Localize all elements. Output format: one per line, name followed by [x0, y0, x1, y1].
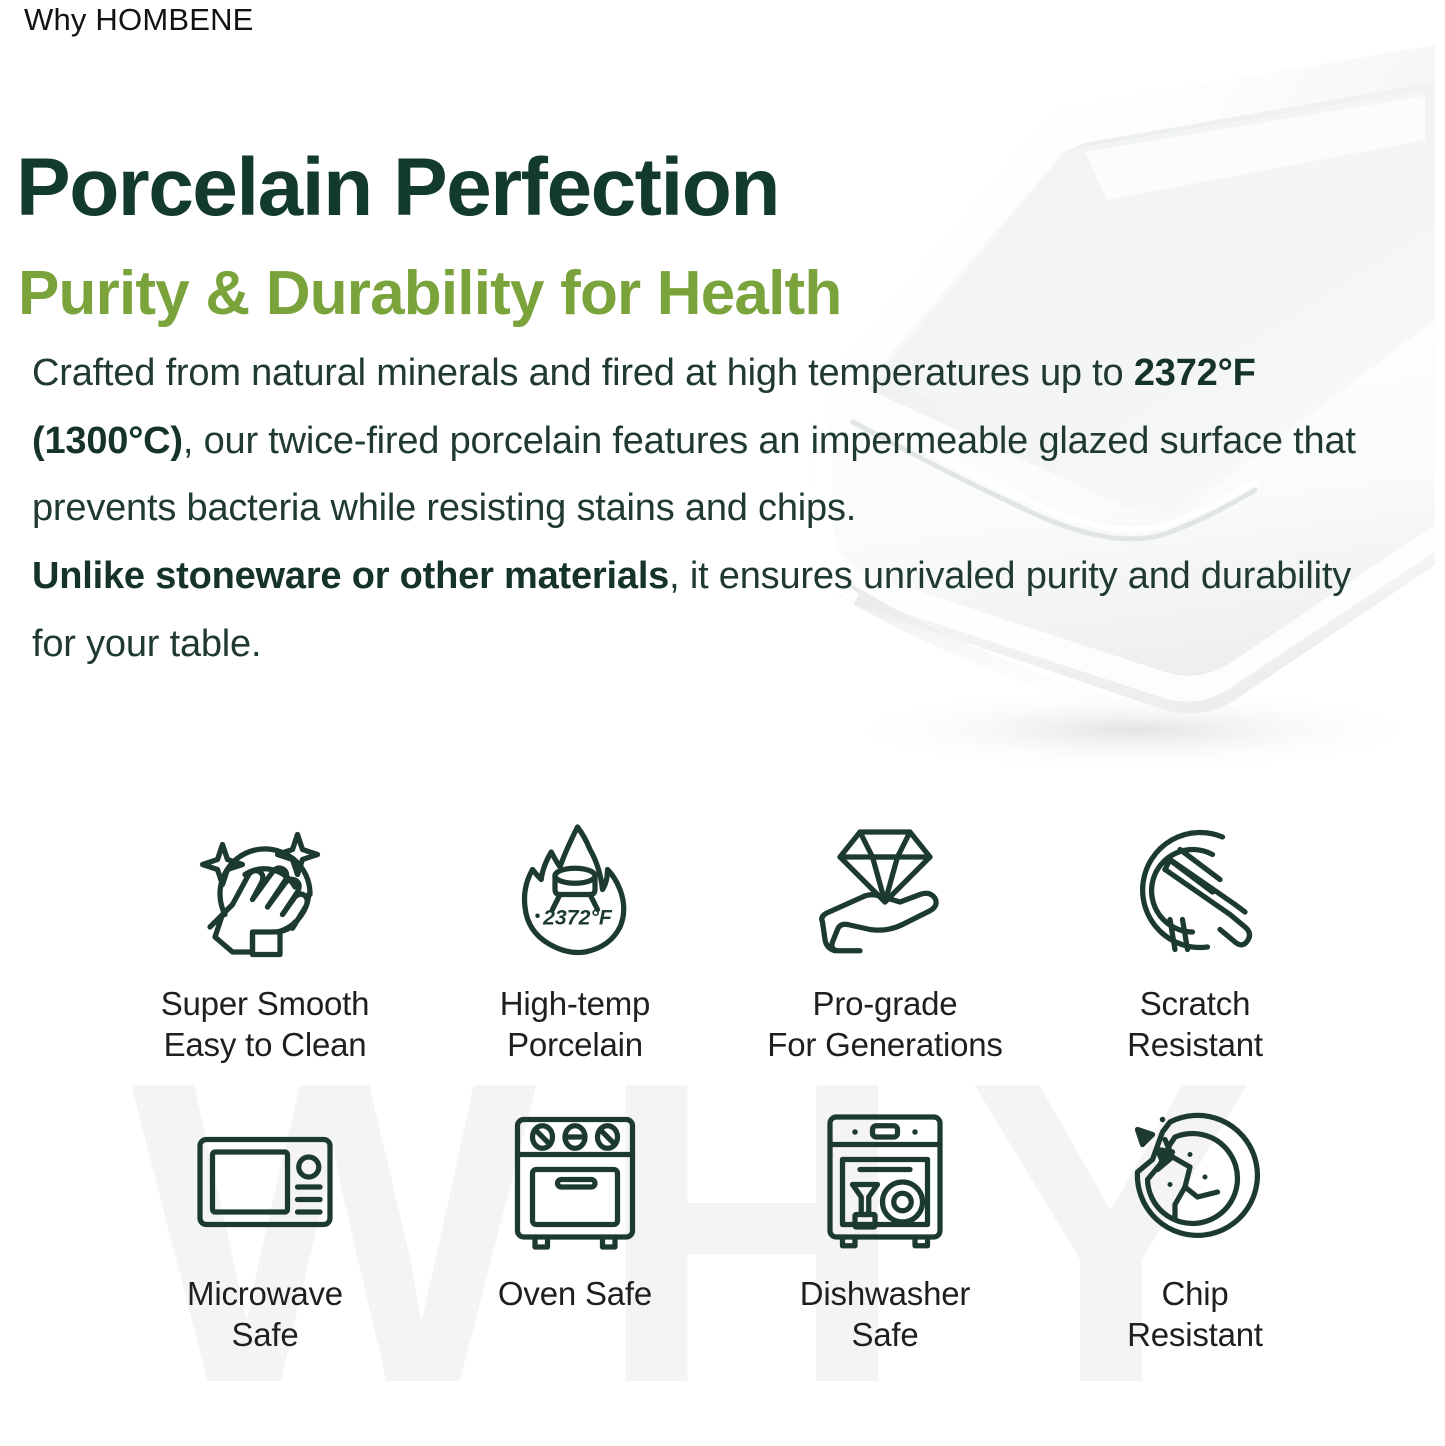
oven-range-icon: [495, 1102, 655, 1262]
feature-item: Super Smooth Easy to Clean: [110, 812, 420, 1066]
microwave-icon: [185, 1102, 345, 1262]
feature-label: Oven Safe: [498, 1274, 652, 1315]
body-comparison-highlight: Unlike stoneware or other materials: [32, 555, 669, 597]
flame-temperature-label: 2372°F: [542, 906, 613, 930]
feature-item: 2372°F High-temp Porcelain: [420, 812, 730, 1066]
body-p1-part-a: Crafted from natural minerals and fired …: [32, 352, 1134, 394]
feature-item: Dishwasher Safe: [730, 1102, 1040, 1356]
feature-label: Microwave Safe: [187, 1274, 343, 1356]
feature-grid: Super Smooth Easy to Clean 2372°F High-t…: [110, 812, 1350, 1356]
feature-label: Scratch Resistant: [1127, 984, 1263, 1066]
body-copy: Crafted from natural minerals and fired …: [32, 340, 1362, 678]
body-p1-part-b: , our twice-fired porcelain features an …: [32, 420, 1356, 530]
body-paragraph-2: Unlike stoneware or other materials, it …: [32, 543, 1362, 678]
page-subtitle: Purity & Durability for Health: [18, 263, 841, 325]
flame-kiln-icon: 2372°F: [495, 812, 655, 972]
feature-label: Super Smooth Easy to Clean: [161, 984, 370, 1066]
feature-item: Scratch Resistant: [1040, 812, 1350, 1066]
feature-item: Chip Resistant: [1040, 1102, 1350, 1356]
dishwasher-icon: [805, 1102, 965, 1262]
feature-label: High-temp Porcelain: [500, 984, 650, 1066]
chipped-plate-icon: [1115, 1102, 1275, 1262]
diamond-hand-icon: [805, 812, 965, 972]
feature-item: Microwave Safe: [110, 1102, 420, 1356]
feature-item: Pro-grade For Generations: [730, 812, 1040, 1066]
feature-label: Chip Resistant: [1127, 1274, 1263, 1356]
sparkle-hand-wipe-icon: [185, 812, 345, 972]
feature-item: Oven Safe: [420, 1102, 730, 1356]
page-title: Porcelain Perfection: [16, 147, 779, 229]
feature-label: Pro-grade For Generations: [767, 984, 1002, 1066]
feature-label: Dishwasher Safe: [800, 1274, 970, 1356]
knife-plate-scratch-icon: [1115, 812, 1275, 972]
brand-eyebrow: Why HOMBENE: [24, 2, 254, 38]
